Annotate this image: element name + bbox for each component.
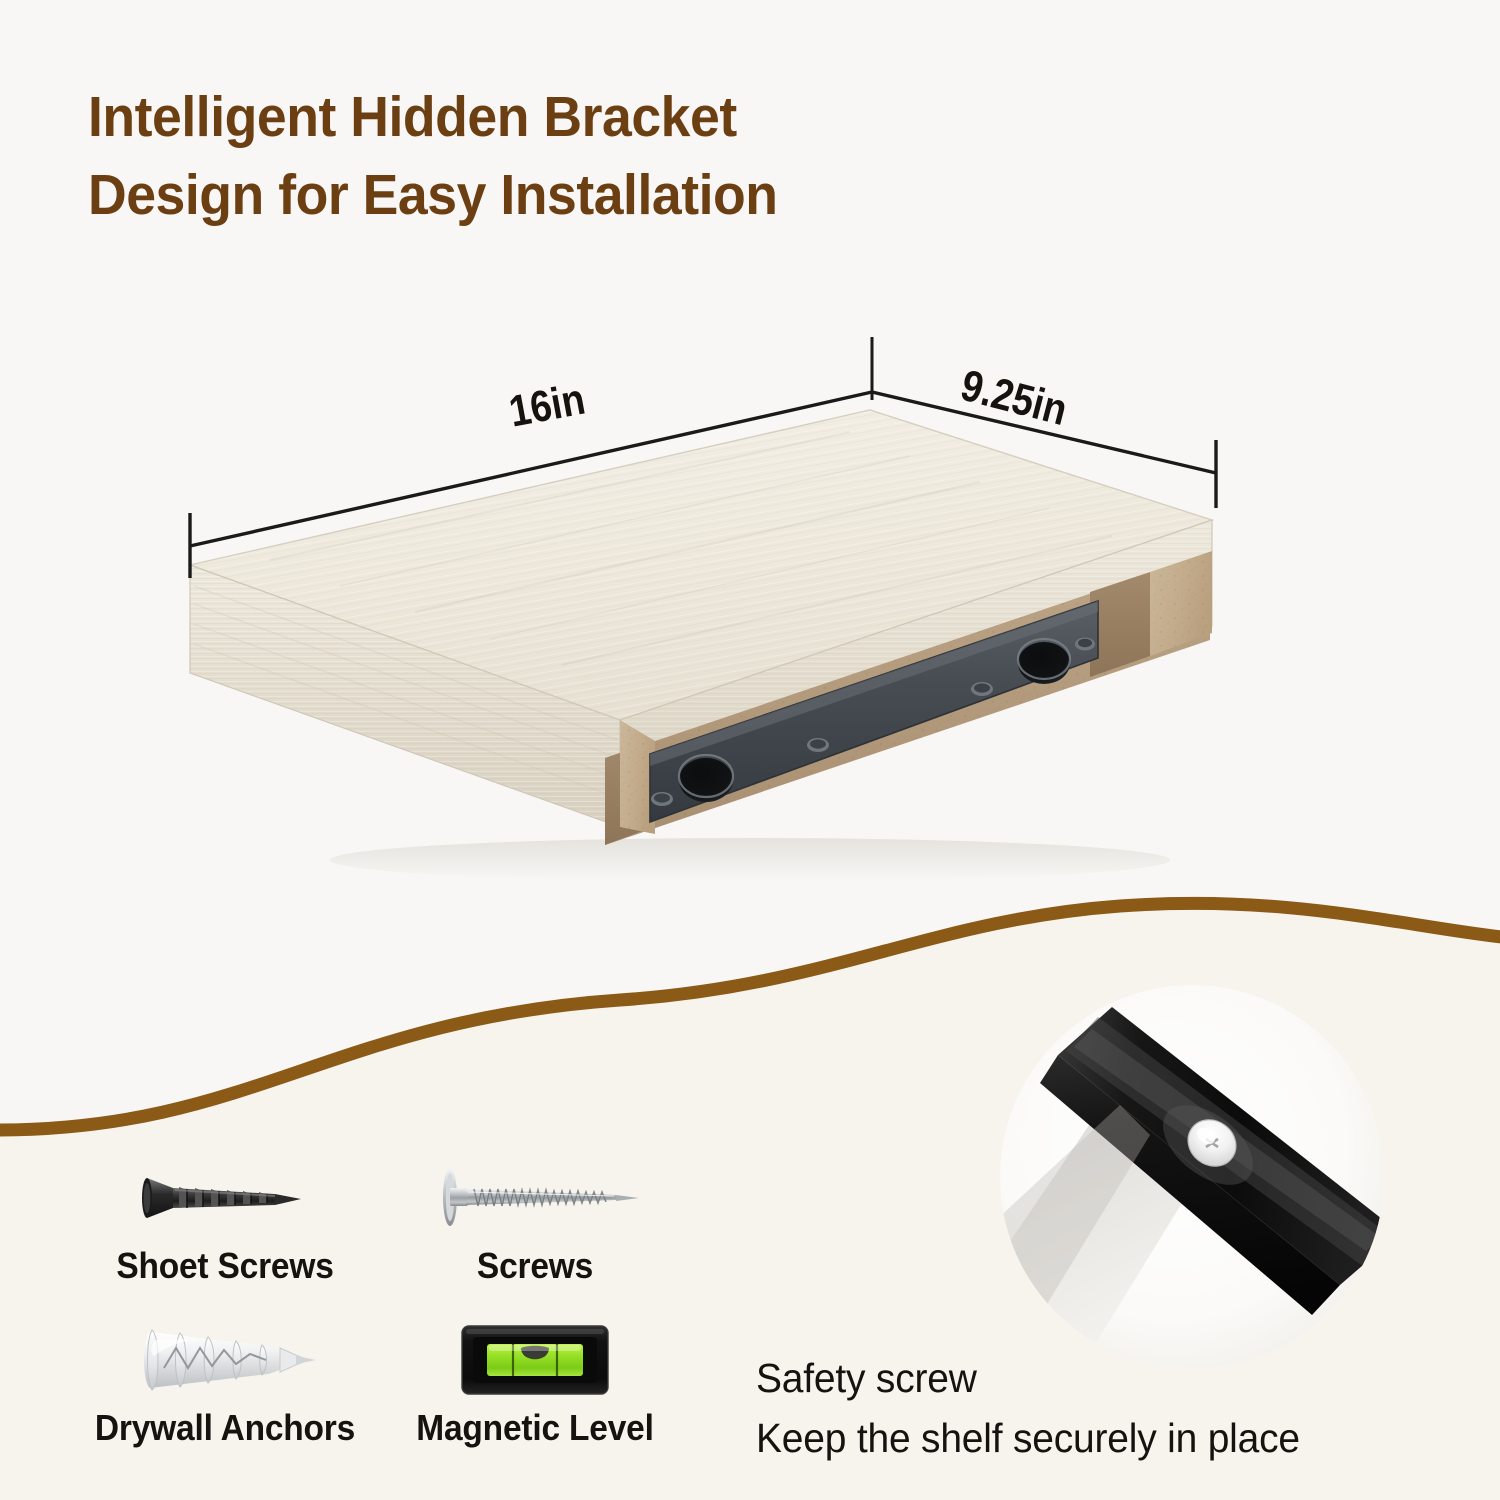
accessory-item-screws: Screws [370,1150,700,1287]
accessory-label: Drywall Anchors [72,1407,379,1449]
accessory-item-shoet-screws: Shoet Screws [60,1150,390,1287]
bracket-screw-slot [1075,638,1095,651]
accessory-label: Screws [382,1245,689,1287]
safety-screw-inset-photo [1000,985,1385,1370]
accessory-label: Shoet Screws [72,1245,379,1287]
accessory-item-drywall-anchors: Drywall Anchors [60,1312,390,1449]
accessory-item-magnetic-level: Magnetic Level [370,1312,700,1449]
product-infographic: Intelligent Hidden Bracket Design for Ea… [0,0,1500,1500]
safety-screw-caption: Safety screw Keep the shelf securely in … [756,1348,1456,1468]
product-image-shelf [150,390,1270,910]
bubble-level-icon [440,1312,630,1407]
accessory-art [60,1150,390,1245]
bracket-screw-slot [651,792,673,806]
bracket-bolt-hole [1018,639,1070,684]
shelf-shadow [330,838,1170,882]
page-title: Intelligent Hidden Bracket Design for Ea… [88,78,1238,234]
title-line-1: Intelligent Hidden Bracket [88,78,1169,156]
safety-heading: Safety screw [756,1348,1421,1408]
bracket-screw-slot [971,682,993,696]
accessory-art [370,1312,700,1407]
accessory-label: Magnetic Level [382,1407,689,1449]
bracket-bolt-hole [679,755,733,802]
drywall-anchor-icon [120,1312,330,1407]
accessory-art [370,1150,700,1245]
silver-screw-icon [420,1150,650,1245]
accessory-art [60,1312,390,1407]
safety-subtext: Keep the shelf securely in place [756,1408,1421,1468]
bracket-screw-slot [807,738,829,752]
black-screw-icon [125,1150,325,1245]
title-line-2: Design for Easy Installation [88,156,1169,234]
